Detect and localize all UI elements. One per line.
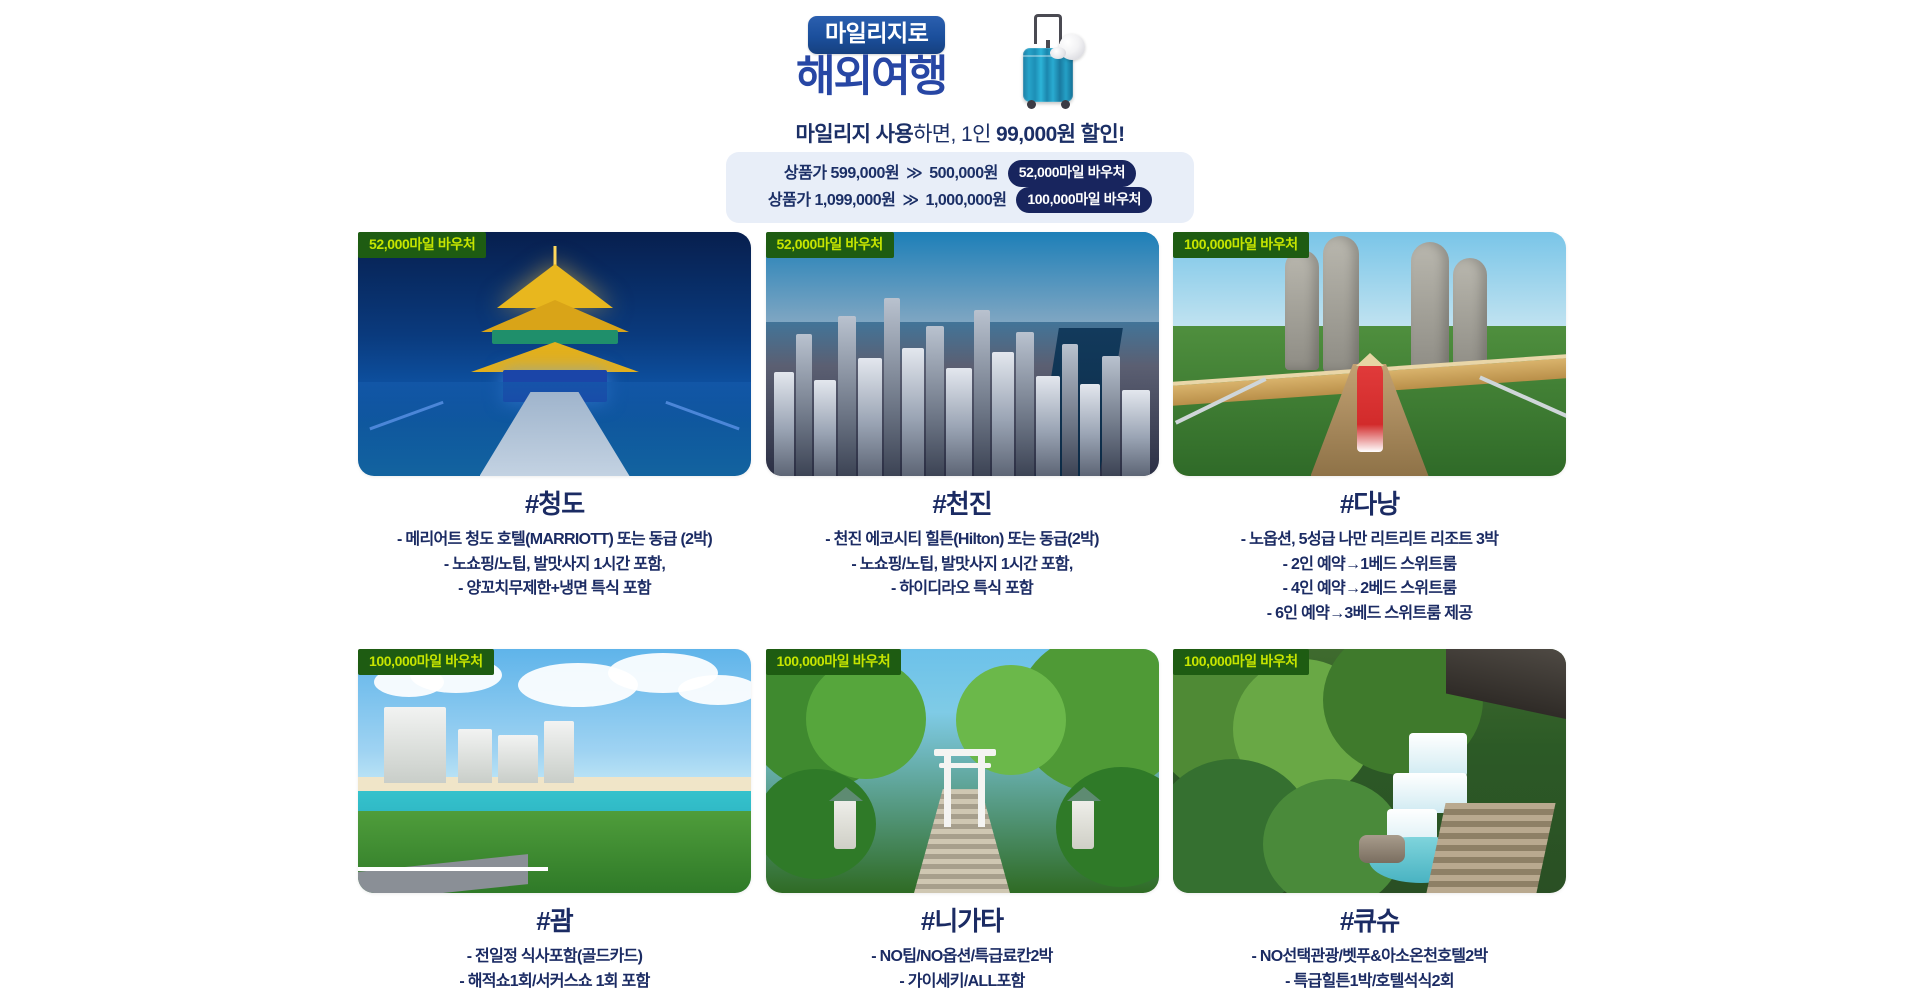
card-desc-line: - 노옵션, 5성급 나만 리트리트 리조트 3박 [1173,528,1566,553]
voucher-badge: 52,000마일 바우처 [358,232,486,258]
card-desc-line: - 천진 에코시티 힐튼(Hilton) 또는 동급(2박) [766,528,1159,553]
card-title: #다낭 [1173,490,1566,520]
card-title: #괌 [358,907,751,937]
voucher-badge: 52,000마일 바우처 [766,232,894,258]
voucher-badge: 100,000마일 바우처 [1173,232,1309,258]
card-thumbnail-wrap[interactable]: 52,000마일 바우처 [766,232,1159,476]
product-grid: 52,000마일 바우처 #청도 - 메리어트 청도 호텔(MARRIOTT) … [358,232,1566,995]
card-title: #청도 [358,490,751,520]
discount-suffix: 할인! [1075,123,1124,146]
discount-amount: 99,000원 [996,123,1075,146]
price-arrow-icon: ≫ [902,192,918,209]
card-image-niigata[interactable] [766,649,1159,893]
card-desc-line: - 노쇼핑/노팁, 발맛사지 1시간 포함, [766,553,1159,578]
voucher-pill: 52,000마일 바우처 [1008,160,1136,187]
card-desc-line: - 노쇼핑/노팁, 발맛사지 1시간 포함, [358,553,751,578]
price-summary-box: 상품가 599,000원 ≫ 500,000원 52,000마일 바우처 상품가… [726,152,1194,223]
card-title: #니가타 [766,907,1159,937]
discount-headline: 마일리지 사용하면, 1인 99,000원 할인! [0,118,1920,148]
hero-title-group: 마일리지로 해외여행 [790,8,1130,108]
promo-page: 마일리지로 해외여행 마일리지 사용하면, 1인 99,000원 할인! 상품가… [0,0,1920,996]
price-row: 상품가 599,000원 ≫ 500,000원 52,000마일 바우처 [726,160,1194,187]
product-row: 100,000마일 바우처 #괌 - 전일정 식사포함(골드카드) - 해적쇼1… [358,649,1566,994]
card-desc-line: - 4인 예약→2베드 스위트룸 [1173,577,1566,602]
card-image-qingdao[interactable] [358,232,751,476]
card-desc-line: - NO선택관광/벳푸&아소온천호텔2박 [1173,945,1566,970]
price-original: 상품가 599,000원 [784,165,899,182]
page-title: 해외여행 [796,56,946,99]
card-desc-line: - 6인 예약→3베드 스위트룸 제공 [1173,602,1566,627]
card-description: - 전일정 식사포함(골드카드) - 해적쇼1회/서커스쇼 1회 포함 [358,945,751,995]
product-card-danang[interactable]: 100,000마일 바우처 #다낭 - 노옵션, 5성급 나만 리트리트 리조트… [1173,232,1566,627]
product-card-qingdao[interactable]: 52,000마일 바우처 #청도 - 메리어트 청도 호텔(MARRIOTT) … [358,232,751,627]
price-discounted: 1,000,000원 [926,192,1007,209]
voucher-badge: 100,000마일 바우처 [1173,649,1309,675]
price-arrow-icon: ≫ [906,165,922,182]
card-image-kyushu[interactable] [1173,649,1566,893]
product-card-tianjin[interactable]: 52,000마일 바우처 #천진 - 천진 에코시티 힐튼(Hilton) 또는… [766,232,1159,627]
product-card-kyushu[interactable]: 100,000마일 바우처 #큐슈 - NO선택관광/벳푸&아소온천호텔2박 -… [1173,649,1566,994]
card-desc-line: - 메리어트 청도 호텔(MARRIOTT) 또는 동급 (2박) [358,528,751,553]
card-desc-line: - 전일정 식사포함(골드카드) [358,945,751,970]
card-title: #천진 [766,490,1159,520]
card-desc-line: - 2인 예약→1베드 스위트룸 [1173,553,1566,578]
card-thumbnail-wrap[interactable]: 100,000마일 바우처 [1173,649,1566,893]
card-description: - 천진 에코시티 힐튼(Hilton) 또는 동급(2박) - 노쇼핑/노팁,… [766,528,1159,602]
card-description: - 노옵션, 5성급 나만 리트리트 리조트 3박 - 2인 예약→1베드 스위… [1173,528,1566,627]
suitcase-icon [1005,14,1091,110]
card-desc-line: - 해적쇼1회/서커스쇼 1회 포함 [358,970,751,995]
card-desc-line: - 양꼬치무제한+냉면 특식 포함 [358,577,751,602]
card-description: - NO선택관광/벳푸&아소온천호텔2박 - 특급힐튼1박/호텔석식2회 [1173,945,1566,995]
card-desc-line: - NO팁/NO옵션/특급료칸2박 [766,945,1159,970]
card-image-guam[interactable] [358,649,751,893]
discount-prefix: 마일리지 사용 [796,123,914,146]
page-header: 마일리지로 해외여행 마일리지 사용하면, 1인 99,000원 할인! 상품가… [0,0,1920,215]
card-thumbnail-wrap[interactable]: 100,000마일 바우처 [766,649,1159,893]
card-image-danang[interactable] [1173,232,1566,476]
card-description: - NO팁/NO옵션/특급료칸2박 - 가이세키/ALL포함 [766,945,1159,995]
discount-mid: 하면, 1인 [913,123,996,146]
card-desc-line: - 하이디라오 특식 포함 [766,577,1159,602]
card-desc-line: - 특급힐튼1박/호텔석식2회 [1173,970,1566,995]
card-desc-line: - 가이세키/ALL포함 [766,970,1159,995]
product-card-niigata[interactable]: 100,000마일 바우처 #니가타 - NO팁/NO옵션/특급료칸2박 - 가… [766,649,1159,994]
voucher-badge: 100,000마일 바우처 [358,649,494,675]
card-description: - 메리어트 청도 호텔(MARRIOTT) 또는 동급 (2박) - 노쇼핑/… [358,528,751,602]
price-discounted: 500,000원 [929,165,998,182]
card-title: #큐슈 [1173,907,1566,937]
card-thumbnail-wrap[interactable]: 100,000마일 바우처 [1173,232,1566,476]
voucher-pill: 100,000마일 바우처 [1016,187,1152,214]
hero-kicker-pill: 마일리지로 [808,16,945,54]
price-row: 상품가 1,099,000원 ≫ 1,000,000원 100,000마일 바우… [726,187,1194,214]
voucher-badge: 100,000마일 바우처 [766,649,902,675]
card-image-tianjin[interactable] [766,232,1159,476]
card-thumbnail-wrap[interactable]: 52,000마일 바우처 [358,232,751,476]
card-thumbnail-wrap[interactable]: 100,000마일 바우처 [358,649,751,893]
product-card-guam[interactable]: 100,000마일 바우처 #괌 - 전일정 식사포함(골드카드) - 해적쇼1… [358,649,751,994]
product-row: 52,000마일 바우처 #청도 - 메리어트 청도 호텔(MARRIOTT) … [358,232,1566,627]
price-original: 상품가 1,099,000원 [768,192,896,209]
